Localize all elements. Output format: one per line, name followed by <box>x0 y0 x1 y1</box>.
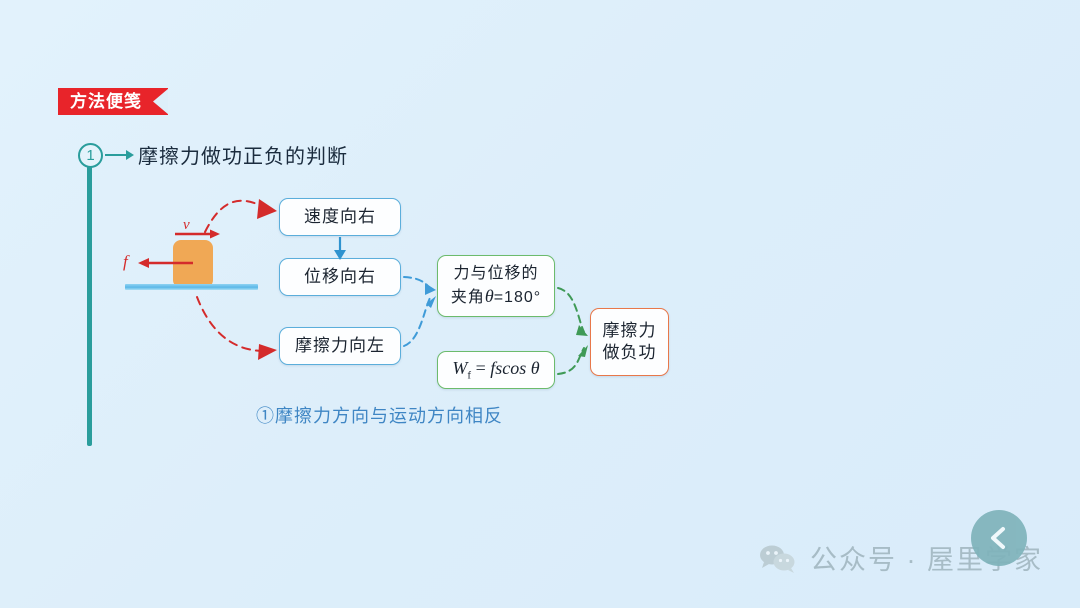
flow-box-friction-direction-label: 摩擦力向左 <box>295 335 385 357</box>
sliding-block <box>173 240 213 288</box>
flow-box-result: 摩擦力 做负功 <box>590 308 669 376</box>
section-spine <box>87 166 92 446</box>
flow-box-result-line2: 做负功 <box>599 342 661 364</box>
flow-box-velocity: 速度向右 <box>279 198 401 236</box>
work-formula: Wf = fscos θ <box>452 357 539 383</box>
banner-notch <box>153 88 169 115</box>
back-button[interactable] <box>971 510 1027 566</box>
ground-surface <box>125 284 258 290</box>
bullet-number-label: 1 <box>86 147 94 164</box>
bullet-number-1: 1 <box>78 143 103 168</box>
flow-box-result-line1: 摩擦力 <box>599 320 661 342</box>
flow-box-formula: Wf = fscos θ <box>437 351 555 389</box>
flow-box-displacement: 位移向右 <box>279 258 401 296</box>
flow-box-displacement-label: 位移向右 <box>304 266 376 288</box>
bullet-arrow-icon <box>105 148 135 162</box>
flow-box-angle-line1: 力与位移的 <box>447 264 545 284</box>
slide-canvas: 方法便笺 1 摩擦力做功正负的判断 v f 速度向右 位移向右 摩擦力向左 <box>0 0 1080 608</box>
velocity-label: v <box>183 217 190 234</box>
theta-symbol: θ <box>485 286 494 306</box>
free-body-sketch: v f <box>105 205 285 315</box>
section-banner-label: 方法便笺 <box>70 93 142 110</box>
friction-label: f <box>123 252 128 272</box>
flow-box-velocity-label: 速度向右 <box>304 206 376 228</box>
flow-box-friction-direction: 摩擦力向左 <box>279 327 401 365</box>
flow-box-angle: 力与位移的 夹角θ=180° <box>437 255 555 317</box>
flow-box-angle-line2: 夹角θ=180° <box>447 285 545 308</box>
wechat-icon <box>758 543 798 573</box>
section-banner: 方法便笺 <box>58 88 168 115</box>
footnote-text: ①摩擦力方向与运动方向相反 <box>256 402 503 428</box>
page-title: 摩擦力做功正负的判断 <box>138 140 348 169</box>
chevron-left-icon <box>986 525 1012 551</box>
